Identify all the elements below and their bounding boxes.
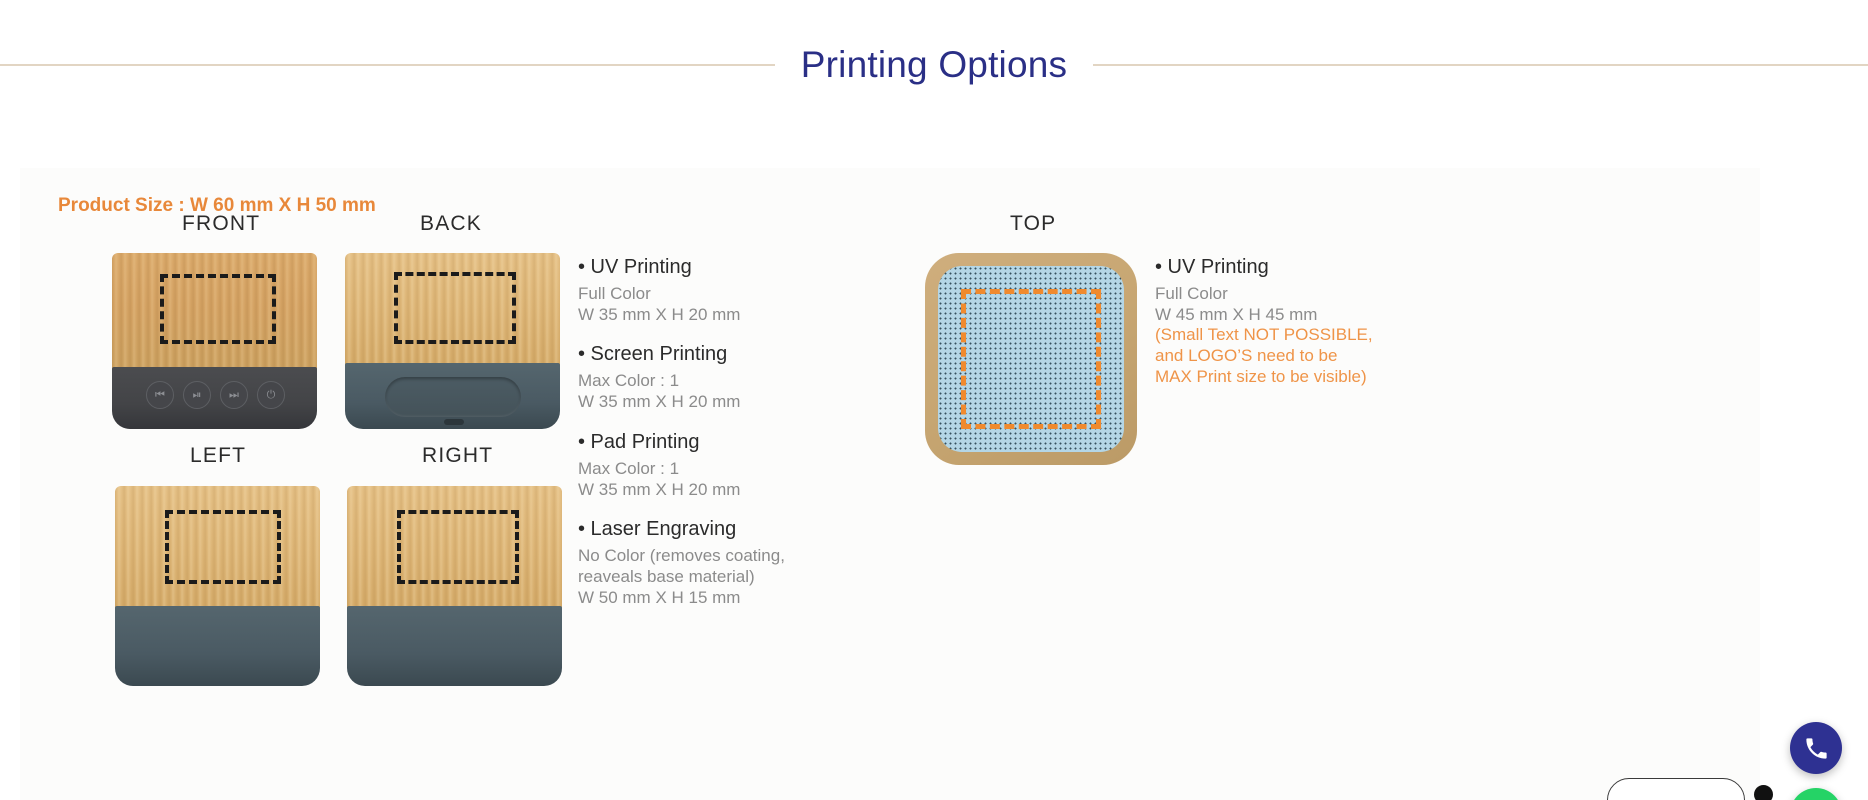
spec-detail-line: Full Color <box>578 284 785 305</box>
page-title: Printing Options <box>801 44 1067 86</box>
spec-detail-line: W 35 mm X H 20 mm <box>578 480 785 501</box>
spec-item-uv-printing: • UV Printing Full Color W 35 mm X H 20 … <box>578 256 785 325</box>
spec-detail-line: Full Color <box>1155 284 1373 305</box>
spec-warning-line: and LOGO’S need to be <box>1155 346 1373 367</box>
print-area-back <box>394 272 516 344</box>
spec-detail-line: W 35 mm X H 20 mm <box>578 392 785 413</box>
spec-title: • Laser Engraving <box>578 518 785 541</box>
speaker-base-left <box>115 606 320 686</box>
view-label-left: LEFT <box>190 444 246 468</box>
spec-detail-line: W 50 mm X H 15 mm <box>578 588 785 609</box>
print-area-top <box>961 289 1101 429</box>
phone-icon <box>1803 735 1830 762</box>
spec-warning-line: MAX Print size to be visible) <box>1155 367 1373 388</box>
spec-item-screen-printing: • Screen Printing Max Color : 1 W 35 mm … <box>578 343 785 412</box>
page-header: Printing Options <box>0 30 1868 100</box>
printing-options-panel: Product Size : W 60 mm X H 50 mm FRONT B… <box>20 168 1760 800</box>
spec-title: • Pad Printing <box>578 431 785 454</box>
speaker-left-view <box>115 486 320 686</box>
speaker-controls: ⏮ ⏯ ⏭ ⏻ <box>146 381 285 409</box>
spec-title: • Screen Printing <box>578 343 785 366</box>
header-rule-left <box>0 64 775 66</box>
spec-title: • UV Printing <box>578 256 785 279</box>
power-icon[interactable]: ⏻ <box>257 381 285 409</box>
spec-detail-line: W 35 mm X H 20 mm <box>578 305 785 326</box>
spec-item-pad-printing: • Pad Printing Max Color : 1 W 35 mm X H… <box>578 431 785 500</box>
speaker-top-view <box>925 253 1137 465</box>
call-button[interactable] <box>1790 722 1842 774</box>
spec-item-top-uv-printing: • UV Printing Full Color W 45 mm X H 45 … <box>1155 256 1373 388</box>
left-spec-list: • UV Printing Full Color W 35 mm X H 20 … <box>578 256 785 627</box>
top-spec-list: • UV Printing Full Color W 45 mm X H 45 … <box>1155 256 1373 406</box>
whatsapp-button[interactable] <box>1790 788 1842 800</box>
spec-item-laser-engraving: • Laser Engraving No Color (removes coat… <box>578 518 785 608</box>
speaker-back-view <box>345 253 560 429</box>
spec-detail-line: reaveals base material) <box>578 567 785 588</box>
view-label-right: RIGHT <box>422 444 493 468</box>
back-recessed-panel <box>385 377 521 417</box>
spec-detail-line: Max Color : 1 <box>578 371 785 392</box>
spec-detail-line: Max Color : 1 <box>578 459 785 480</box>
header-rule-right <box>1093 64 1868 66</box>
print-area-right <box>397 510 519 584</box>
speaker-base-right <box>347 606 562 686</box>
previous-track-icon[interactable]: ⏮ <box>146 381 174 409</box>
view-label-front: FRONT <box>182 212 260 236</box>
printing-options-page: Printing Options Product Size : W 60 mm … <box>0 0 1868 800</box>
print-area-left <box>165 510 281 584</box>
speaker-right-view <box>347 486 562 686</box>
spec-title: • UV Printing <box>1155 256 1373 279</box>
spec-detail-line: W 45 mm X H 45 mm <box>1155 305 1373 326</box>
play-pause-icon[interactable]: ⏯ <box>183 381 211 409</box>
bottom-dot-indicator <box>1754 785 1773 800</box>
print-area-front <box>160 274 276 344</box>
speaker-front-view: ⏮ ⏯ ⏭ ⏻ <box>112 253 317 429</box>
next-track-icon[interactable]: ⏭ <box>220 381 248 409</box>
bottom-pill-button[interactable] <box>1607 778 1745 800</box>
spec-detail-line: No Color (removes coating, <box>578 546 785 567</box>
view-label-back: BACK <box>420 212 482 236</box>
spec-warning-line: (Small Text NOT POSSIBLE, <box>1155 325 1373 346</box>
view-label-top: TOP <box>1010 212 1056 236</box>
charging-port <box>444 419 464 425</box>
